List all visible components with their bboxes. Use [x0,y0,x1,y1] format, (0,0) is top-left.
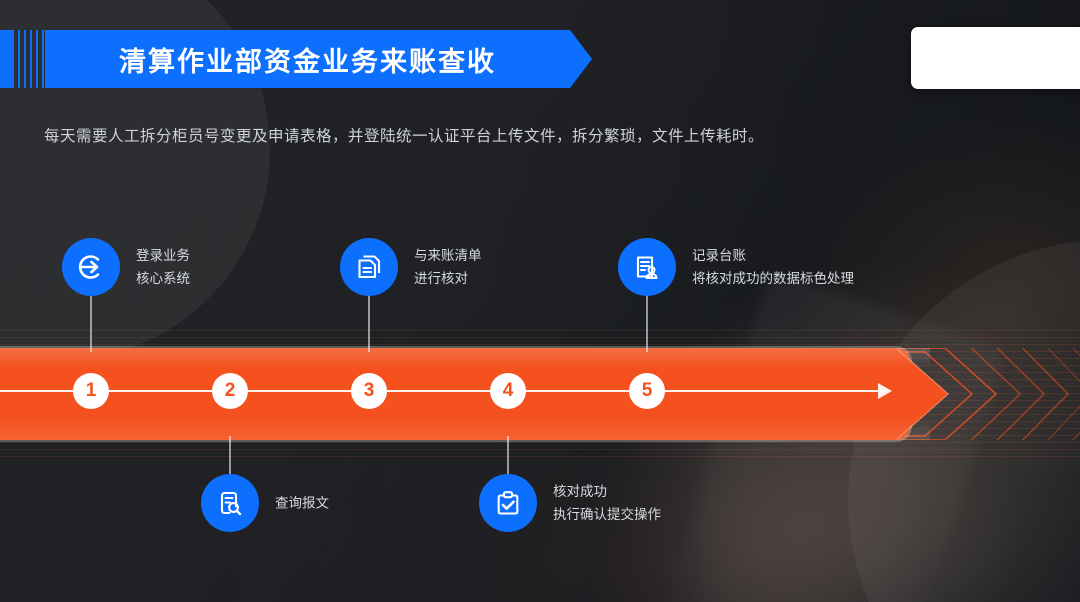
top-right-white-panel[interactable] [911,27,1080,89]
step-node-4-label: 核对成功 执行确认提交操作 [553,480,661,526]
step-node-3[interactable]: 与来账清单 进行核对 [340,238,640,296]
connector-step-1 [90,296,92,352]
step-node-4-line1: 核对成功 [553,480,661,503]
page-title: 清算作业部资金业务来账查收 [119,40,496,79]
banner-stripes-decoration [14,30,45,88]
page-subtitle: 每天需要人工拆分柜员号变更及申请表格，并登陆统一认证平台上传文件，拆分繁琐，文件… [44,124,944,146]
step-node-5[interactable]: 记录台账 将核对成功的数据标色处理 [618,238,1018,296]
step-number-1-label: 1 [86,380,97,402]
step-number-2-label: 2 [225,380,236,402]
step-node-2-label: 查询报文 [275,492,329,515]
step-node-4-line2: 执行确认提交操作 [553,503,661,526]
step-node-3-line2: 进行核对 [414,267,482,290]
connector-step-2 [229,436,231,474]
document-user-icon [618,238,676,296]
step-node-3-line1: 与来账清单 [414,244,482,267]
timeline-arrow-head [895,348,947,440]
step-number-3[interactable]: 3 [351,373,387,409]
document-search-icon [201,474,259,532]
slide-canvas: 清算作业部资金业务来账查收 每天需要人工拆分柜员号变更及申请表格，并登陆统一认证… [0,0,1080,602]
step-node-5-label: 记录台账 将核对成功的数据标色处理 [692,244,854,290]
step-node-5-line2: 将核对成功的数据标色处理 [692,267,854,290]
timeline-center-line-arrow [878,383,892,399]
step-number-5[interactable]: 5 [629,373,665,409]
step-node-4[interactable]: 核对成功 执行确认提交操作 [479,474,839,532]
step-node-2[interactable]: 查询报文 [201,474,501,532]
step-number-4[interactable]: 4 [490,373,526,409]
banner-body: 清算作业部资金业务来账查收 [45,30,570,88]
step-node-2-line1: 查询报文 [275,492,329,515]
step-number-4-label: 4 [503,380,514,402]
step-node-1[interactable]: 登录业务 核心系统 [62,238,362,296]
banner-arrow-tip [570,30,592,88]
step-number-1[interactable]: 1 [73,373,109,409]
step-node-1-line1: 登录业务 [136,244,190,267]
connector-step-3 [368,296,370,352]
login-icon [62,238,120,296]
connector-step-5 [646,296,648,352]
step-number-5-label: 5 [642,380,653,402]
step-node-3-label: 与来账清单 进行核对 [414,244,482,290]
step-number-2[interactable]: 2 [212,373,248,409]
step-node-1-line2: 核心系统 [136,267,190,290]
documents-icon [340,238,398,296]
step-node-1-label: 登录业务 核心系统 [136,244,190,290]
timeline-center-line [0,390,885,392]
clipboard-check-icon [479,474,537,532]
timeline-arrow-bar [0,348,910,440]
connector-step-4 [507,436,509,474]
banner-accent-block [0,30,14,88]
step-node-5-line1: 记录台账 [692,244,854,267]
step-number-3-label: 3 [364,380,375,402]
